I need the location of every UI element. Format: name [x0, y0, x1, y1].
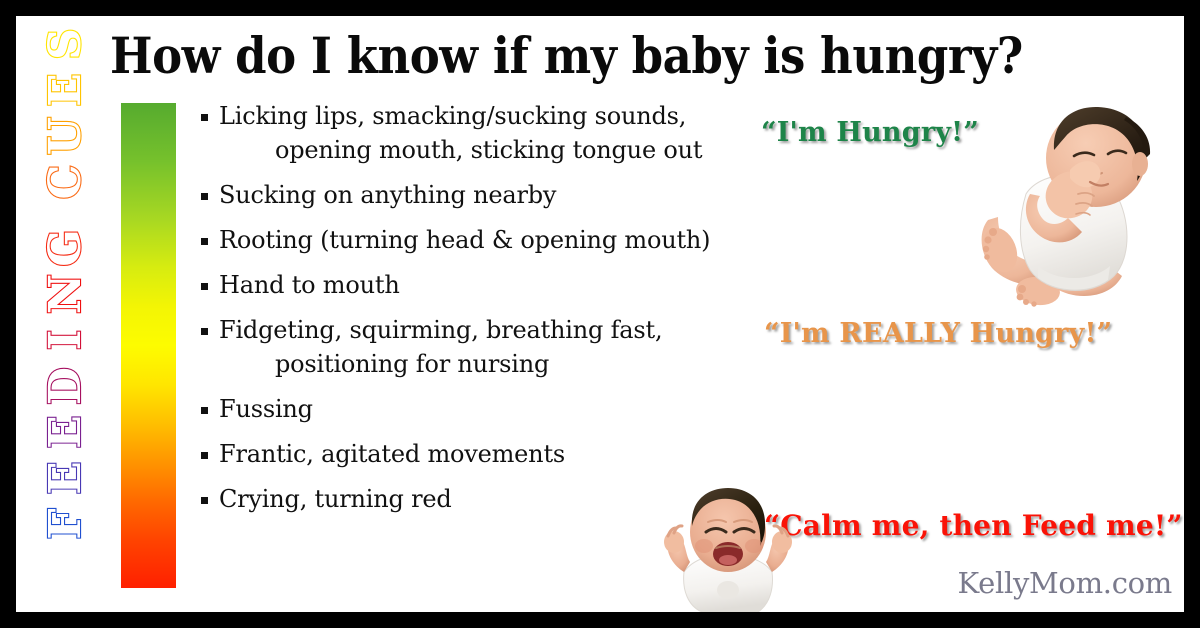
- feeding-cue-text: Fussing: [219, 397, 781, 421]
- crying-baby-photo: [654, 486, 804, 612]
- cue-letter-f-11: F: [45, 501, 89, 547]
- feeding-cue-item: Licking lips, smacking/sucking sounds,op…: [201, 104, 781, 162]
- cue-letter-n-6: N: [45, 271, 89, 317]
- bullet-square-icon: [201, 238, 208, 245]
- feeding-cue-item: Hand to mouth: [201, 273, 781, 297]
- feeding-cues-vertical-label: SEUCGNIDEEF: [30, 16, 104, 612]
- cue-letter-u-2: U: [45, 113, 89, 159]
- feeding-cue-item: Rooting (turning head & opening mouth): [201, 228, 781, 252]
- cue-letter-e-10: E: [45, 455, 89, 501]
- cue-letter-c-3: C: [45, 159, 89, 205]
- feeding-cue-text-continued: opening mouth, sticking tongue out: [275, 138, 781, 162]
- feeding-cue-text: Hand to mouth: [219, 273, 781, 297]
- feeding-cues-list: Licking lips, smacking/sucking sounds,op…: [201, 104, 781, 532]
- feeding-cue-text: Rooting (turning head & opening mouth): [219, 228, 781, 252]
- feeding-cue-item: Frantic, agitated movements: [201, 442, 781, 466]
- poster-frame: SEUCGNIDEEF How do I know if my baby is …: [0, 0, 1200, 628]
- page-title: How do I know if my baby is hungry?: [110, 30, 1064, 83]
- feeding-cue-text: Fidgeting, squirming, breathing fast,: [219, 318, 781, 342]
- hunger-intensity-gradient-bar: [121, 103, 176, 588]
- callout-im-really-hungry: “I'm REALLY Hungry!”: [764, 318, 1112, 349]
- bullet-square-icon: [201, 497, 208, 504]
- cue-letter-g-5: G: [45, 225, 89, 271]
- feeding-cue-text: Sucking on anything nearby: [219, 183, 781, 207]
- cue-letter-e-9: E: [45, 409, 89, 455]
- callout-im-hungry: “I'm Hungry!”: [761, 117, 979, 148]
- feeding-cue-item: Sucking on anything nearby: [201, 183, 781, 207]
- feeding-cue-text: Licking lips, smacking/sucking sounds,: [219, 104, 781, 128]
- cue-letter-d-8: D: [45, 363, 89, 409]
- bullet-square-icon: [201, 328, 208, 335]
- cue-letter-e-1: E: [45, 67, 89, 113]
- cue-letter-i-7: I: [45, 317, 89, 363]
- feeding-cue-item: Fussing: [201, 397, 781, 421]
- poster-canvas: SEUCGNIDEEF How do I know if my baby is …: [16, 16, 1184, 612]
- feeding-cue-item: Fidgeting, squirming, breathing fast,pos…: [201, 318, 781, 376]
- bullet-square-icon: [201, 452, 208, 459]
- bullet-square-icon: [201, 114, 208, 121]
- callout-calm-me-then-feed-me: “Calm me, then Feed me!”: [764, 509, 1183, 542]
- bullet-square-icon: [201, 407, 208, 414]
- feeding-cue-text: Frantic, agitated movements: [219, 442, 781, 466]
- brand-wordmark: KellyMom.com: [958, 566, 1172, 600]
- feeding-cue-text-continued: positioning for nursing: [275, 352, 781, 376]
- baby-sucking-hand-photo: [974, 98, 1179, 313]
- cue-letter-s-0: S: [45, 21, 89, 67]
- bullet-square-icon: [201, 283, 208, 290]
- bullet-square-icon: [201, 193, 208, 200]
